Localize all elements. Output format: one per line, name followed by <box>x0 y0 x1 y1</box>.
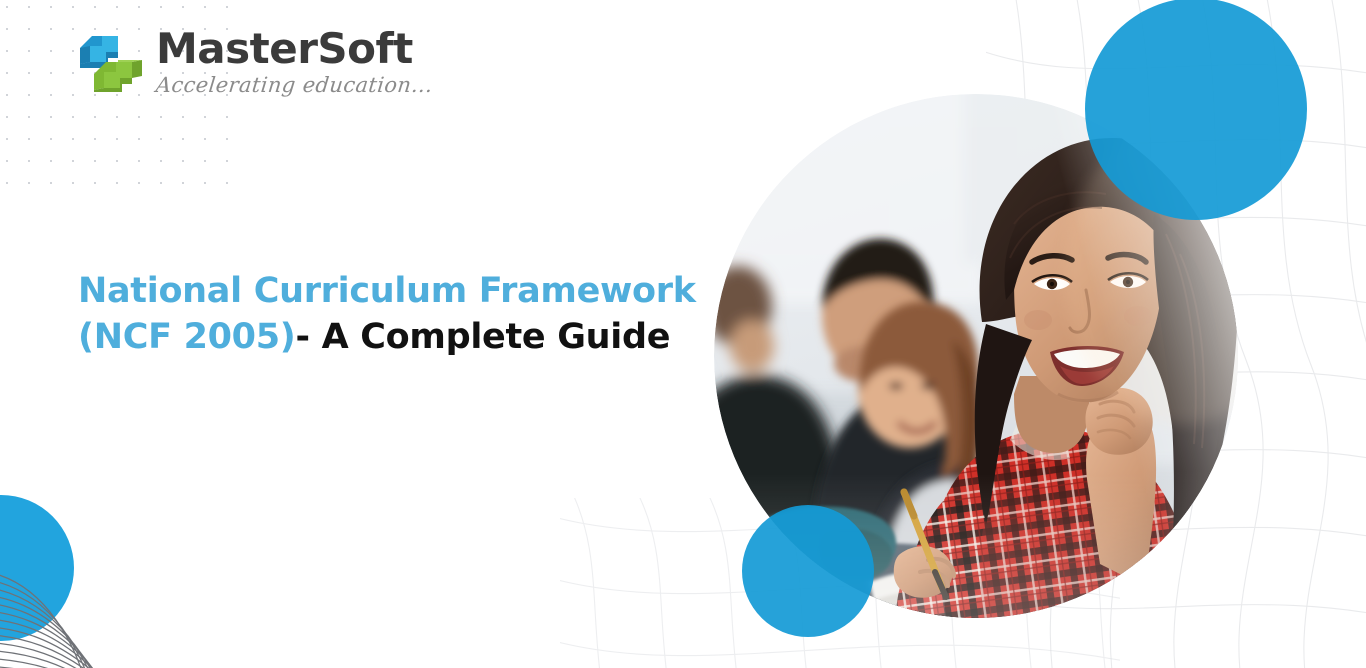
hero-banner: MasterSoft Accelerating education... Nat… <box>0 0 1366 668</box>
blue-circle-top-right <box>1085 0 1307 220</box>
mastersoft-pinwheel-mark <box>72 32 150 94</box>
page-title: National Curriculum Framework (NCF 2005)… <box>78 268 718 360</box>
logo-wordmark: MasterSoft <box>156 28 433 70</box>
logo-tagline: Accelerating education... <box>155 72 434 98</box>
page-title-dark: - A Complete Guide <box>295 317 670 357</box>
mastersoft-logo[interactable]: MasterSoft Accelerating education... <box>72 28 433 98</box>
blue-circle-on-photo <box>742 505 874 637</box>
blue-circle-bottom-left <box>0 495 74 641</box>
